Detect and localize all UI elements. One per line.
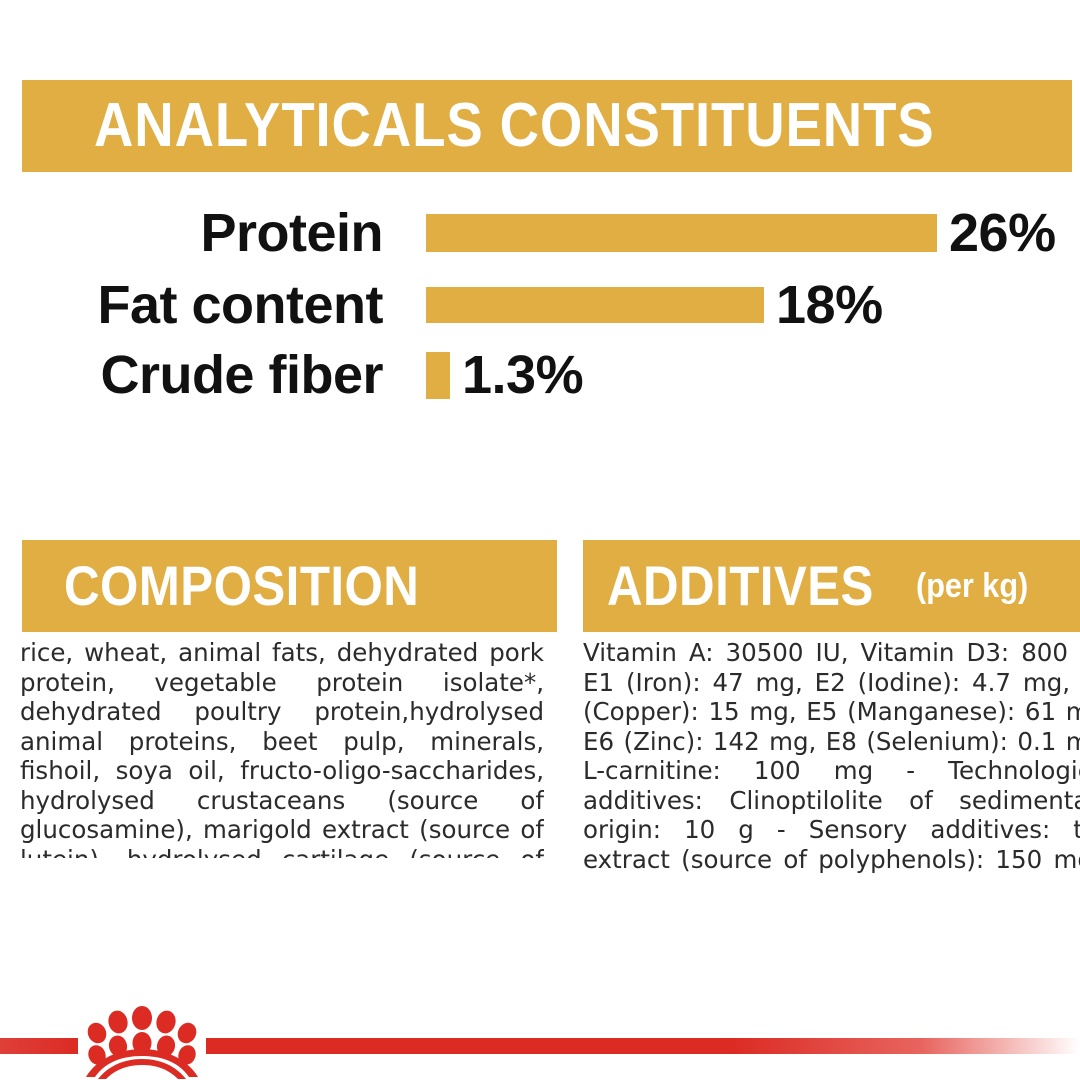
chart-bar-wrap-fat-content: 18% <box>426 278 1080 332</box>
chart-label-protein: Protein <box>0 206 383 260</box>
additives-header-band: ADDITIVES (per kg) <box>583 540 1080 632</box>
chart-bar-protein <box>426 214 937 252</box>
additives-heading: ADDITIVES <box>607 558 874 614</box>
additives-heading-suffix: (per kg) <box>916 569 1028 603</box>
chart-row-protein: Protein 26% <box>0 202 1080 264</box>
analyticals-heading: ANALYTICALS CONSTITUENTS <box>94 95 935 157</box>
chart-value-fat-content: 18% <box>776 278 883 332</box>
composition-text: rice, wheat, animal fats, dehydrated por… <box>20 638 544 858</box>
composition-header-band: COMPOSITION <box>22 540 557 632</box>
brand-rule-right <box>206 1038 1080 1054</box>
chart-label-crude-fiber: Crude fiber <box>0 348 383 402</box>
chart-bar-wrap-crude-fiber: 1.3% <box>426 348 1080 402</box>
chart-row-crude-fiber: Crude fiber 1.3% <box>0 344 1080 406</box>
chart-bar-wrap-protein: 26% <box>426 206 1080 260</box>
chart-bar-crude-fiber <box>426 352 450 399</box>
brand-footer-strip <box>0 1000 1080 1080</box>
chart-value-crude-fiber: 1.3% <box>462 348 583 402</box>
brand-rule-left <box>0 1038 78 1054</box>
royal-canin-crown-logo <box>78 1001 206 1079</box>
chart-bar-fat-content <box>426 287 764 323</box>
additives-text: Vitamin A: 30500 IU, Vitamin D3: 800 IU,… <box>583 638 1080 878</box>
chart-label-fat-content: Fat content <box>0 278 383 332</box>
analyticals-bar-chart: Protein 26% Fat content 18% Crude fiber … <box>0 196 1080 411</box>
analyticals-header-band: ANALYTICALS CONSTITUENTS <box>22 80 1072 172</box>
chart-value-protein: 26% <box>949 206 1056 260</box>
composition-heading: COMPOSITION <box>64 558 419 614</box>
chart-row-fat-content: Fat content 18% <box>0 274 1080 336</box>
